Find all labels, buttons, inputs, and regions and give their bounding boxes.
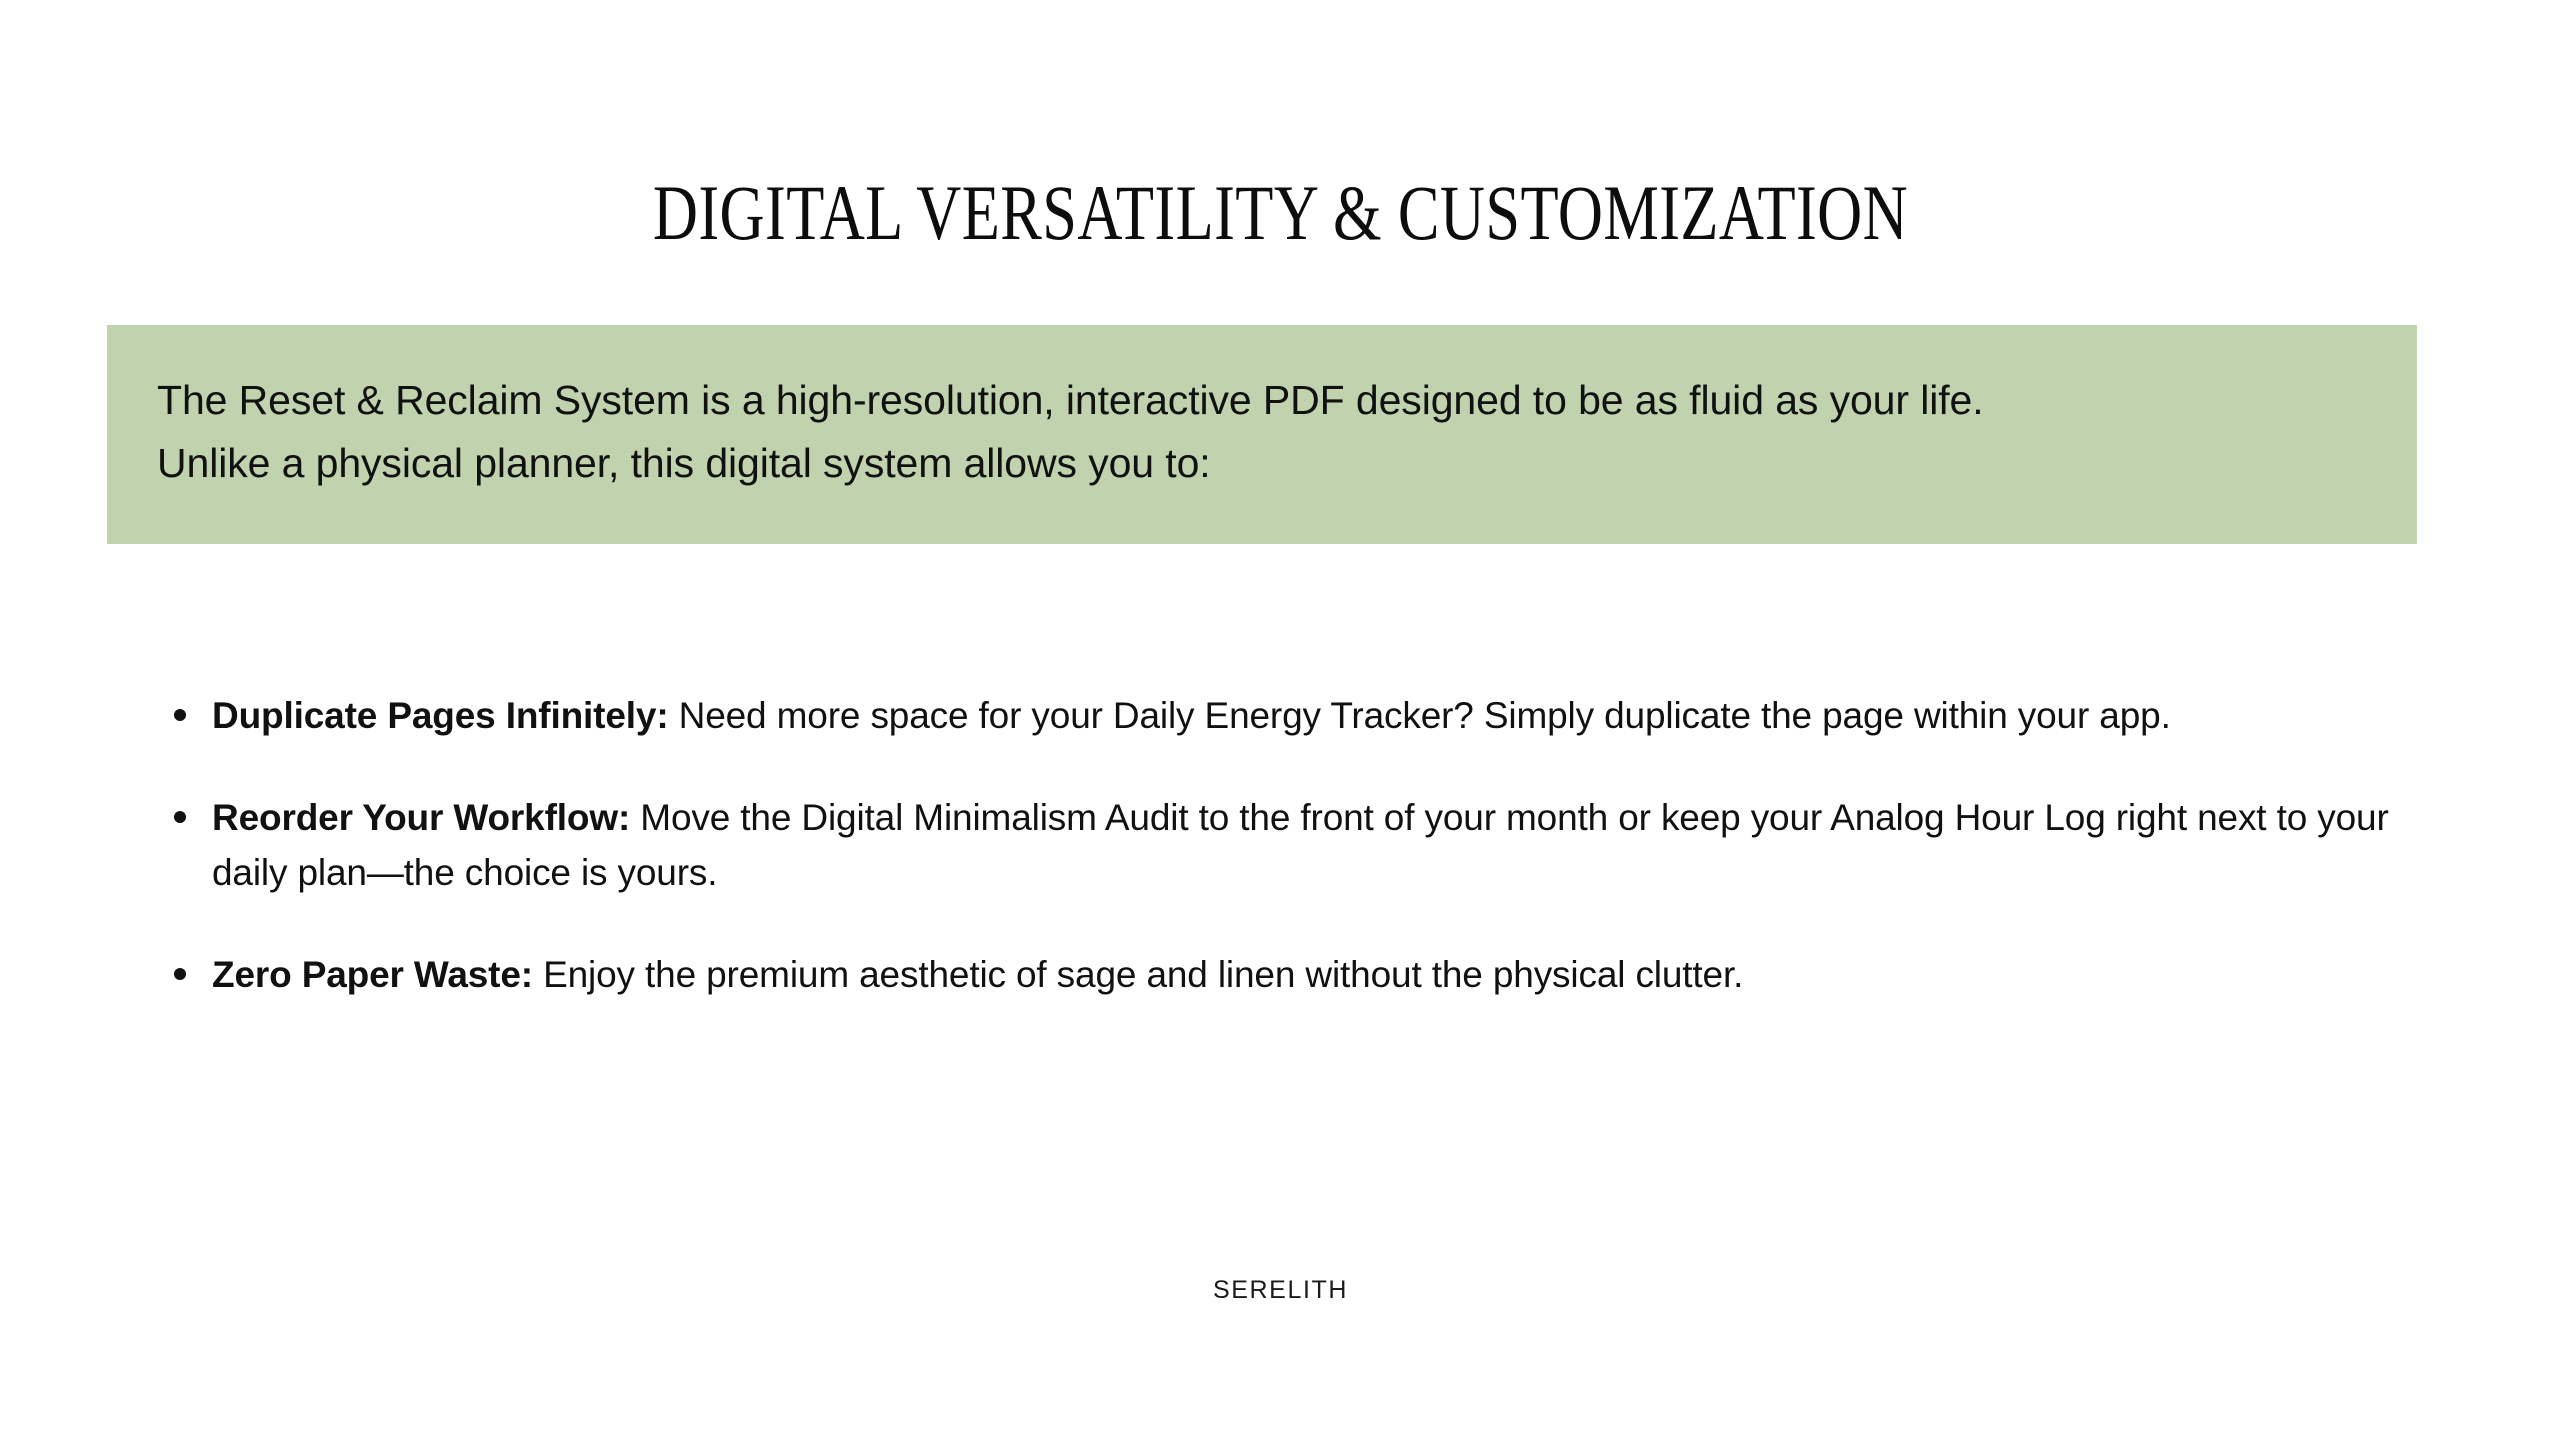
bullet-dot-icon (174, 811, 186, 823)
callout-line-2: Unlike a physical planner, this digital … (157, 440, 1211, 486)
slide-canvas: DIGITAL VERSATILITY & CUSTOMIZATION The … (0, 0, 2561, 1440)
list-item-lead: Duplicate Pages Infinitely: (212, 695, 669, 736)
list-item: Reorder Your Workflow: Move the Digital … (160, 790, 2460, 901)
footer-brand-name: SERELITH (0, 1276, 2561, 1305)
list-item-lead: Zero Paper Waste: (212, 954, 533, 995)
list-item-body: Enjoy the premium aesthetic of sage and … (533, 954, 1743, 995)
callout-line-1: The Reset & Reclaim System is a high-res… (157, 377, 1984, 423)
list-item-body: Need more space for your Daily Energy Tr… (669, 695, 2171, 736)
list-item-lead: Reorder Your Workflow: (212, 797, 630, 838)
feature-bullet-list: Duplicate Pages Infinitely: Need more sp… (160, 688, 2460, 1002)
callout-paragraph: The Reset & Reclaim System is a high-res… (157, 369, 2337, 494)
bullet-dot-icon (174, 968, 186, 980)
list-item: Zero Paper Waste: Enjoy the premium aest… (160, 947, 2460, 1003)
intro-callout-box: The Reset & Reclaim System is a high-res… (107, 325, 2417, 544)
page-title: DIGITAL VERSATILITY & CUSTOMIZATION (256, 174, 2305, 252)
list-item: Duplicate Pages Infinitely: Need more sp… (160, 688, 2460, 744)
bullet-dot-icon (174, 709, 186, 721)
